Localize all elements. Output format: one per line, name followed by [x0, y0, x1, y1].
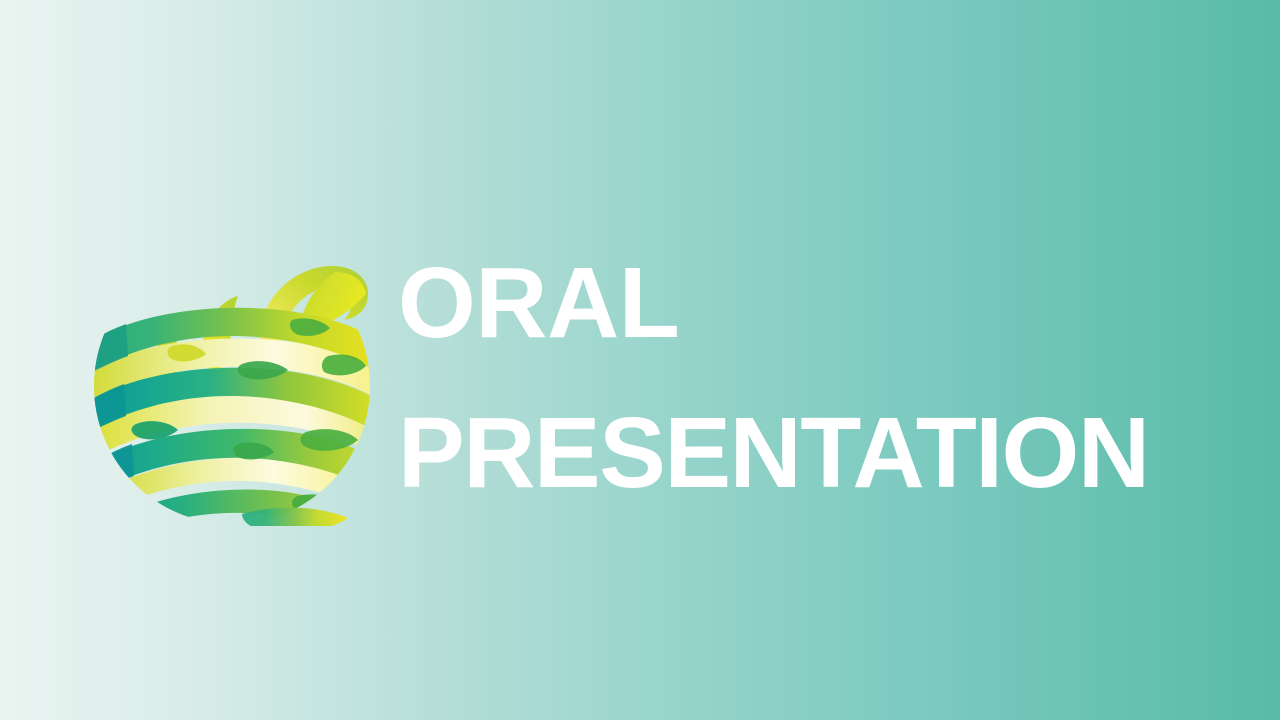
presentation-slide: ORAL PRESENTATION	[0, 0, 1280, 720]
page-title: ORAL PRESENTATION	[398, 228, 1238, 528]
globe-ribbon-leaf-logo	[92, 196, 382, 526]
logo-globe-bands	[92, 308, 382, 526]
title-line-oral: ORAL	[398, 228, 1238, 378]
title-line-presentation: PRESENTATION	[398, 378, 1238, 528]
